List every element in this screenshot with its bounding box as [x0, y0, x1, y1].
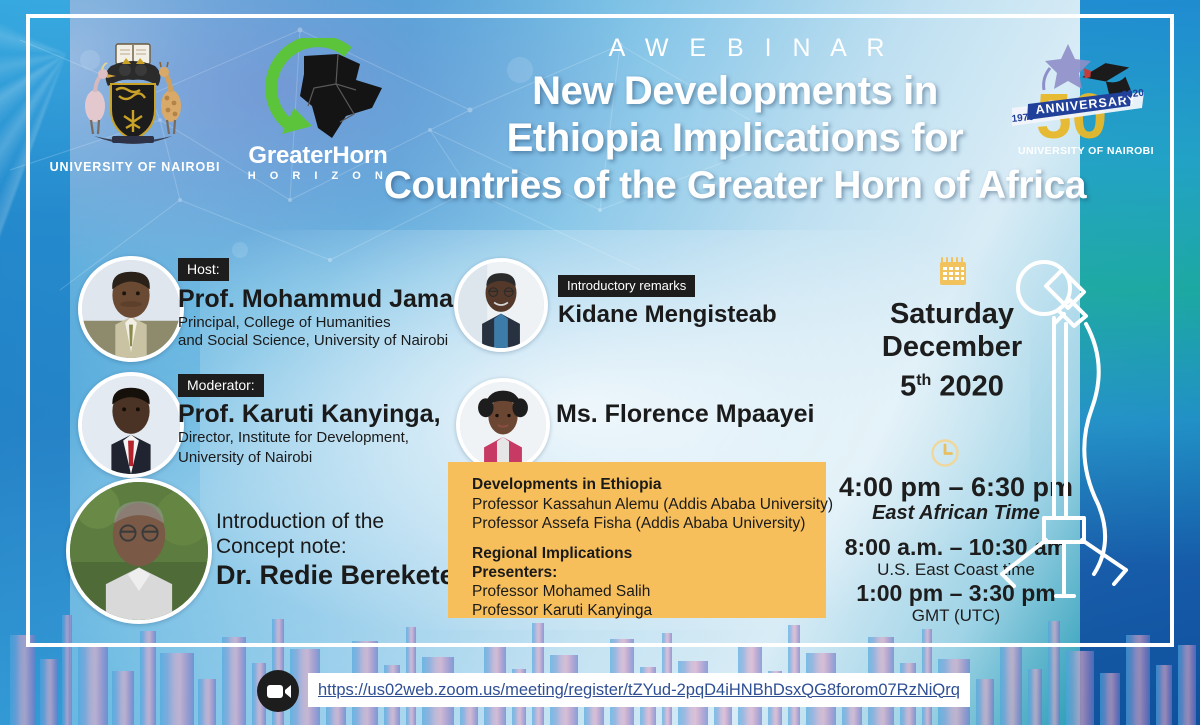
host-name: Prof. Mohammud Jama, — [178, 285, 460, 314]
programme-section-1-item-1: Professor Kassahun Alemu (Addis Ababa Un… — [472, 496, 833, 514]
programme-section-2-subheading: Presenters: — [472, 564, 557, 582]
programme-panel: Developments in Ethiopia Professor Kassa… — [448, 462, 826, 618]
registration-url-box[interactable]: https://us02web.zoom.us/meeting/register… — [308, 673, 970, 707]
event-year: 2020 — [939, 371, 1004, 403]
avatar-introductory-remarks — [454, 258, 548, 352]
programme-section-2-item-2: Professor Karuti Kanyinga — [472, 602, 652, 620]
title-line-3: Countries of the Greater Horn of Africa — [330, 162, 1140, 209]
programme-section-2-item-1: Professor Mohamed Salih — [472, 583, 650, 601]
moderator-role-line-1: Director, Institute for Development, — [178, 428, 409, 447]
programme-section-2-heading: Regional Implications — [472, 545, 632, 563]
registration-link[interactable]: https://us02web.zoom.us/meeting/register… — [318, 681, 960, 700]
event-day-number: 5 — [900, 371, 916, 403]
avatar-speaker — [456, 378, 550, 472]
host-tag: Host: — [178, 258, 229, 281]
title-line-2: Ethiopia Implications for — [330, 115, 1140, 162]
programme-section-1-item-2: Professor Assefa Fisha (Addis Ababa Univ… — [472, 515, 805, 533]
avatar-moderator — [78, 372, 184, 478]
zoom-video-icon — [256, 669, 300, 713]
programme-section-1-heading: Developments in Ethiopia — [472, 476, 661, 494]
university-logo-caption: UNIVERSITY OF NAIROBI — [44, 160, 226, 174]
concept-note-name: Dr. Redie Bereketeab — [216, 560, 486, 591]
speaker-name: Ms. Florence Mpaayei — [556, 400, 814, 429]
host-role-line-1: Principal, College of Humanities — [178, 313, 391, 332]
webinar-poster: UNIVERSITY OF NAIROBI GreaterHorn H O R … — [0, 0, 1200, 725]
title-line-1: New Developments in — [330, 68, 1140, 115]
concept-note-label-line-2: Concept note: — [216, 537, 347, 556]
university-of-nairobi-crest-icon — [78, 40, 188, 155]
concept-note-label-line-1: Introduction of the — [216, 512, 384, 531]
event-day-suffix: th — [916, 372, 931, 389]
moderator-tag: Moderator: — [178, 374, 264, 397]
introductory-remarks-name: Kidane Mengisteab — [558, 301, 777, 329]
kicker-label: A W E B I N A R — [430, 34, 1070, 63]
host-role-line-2: and Social Science, University of Nairob… — [178, 331, 448, 350]
moderator-name: Prof. Karuti Kanyinga, — [178, 400, 441, 429]
calendar-icon — [938, 256, 968, 286]
moderator-role-line-2: University of Nairobi — [178, 448, 312, 467]
clock-icon — [930, 438, 960, 468]
microphone-stand-icon — [1000, 252, 1160, 652]
avatar-concept-note — [66, 478, 212, 624]
page-title: New Developments in Ethiopia Implication… — [330, 68, 1140, 209]
introductory-remarks-tag: Introductory remarks — [558, 275, 695, 297]
avatar-host — [78, 256, 184, 362]
